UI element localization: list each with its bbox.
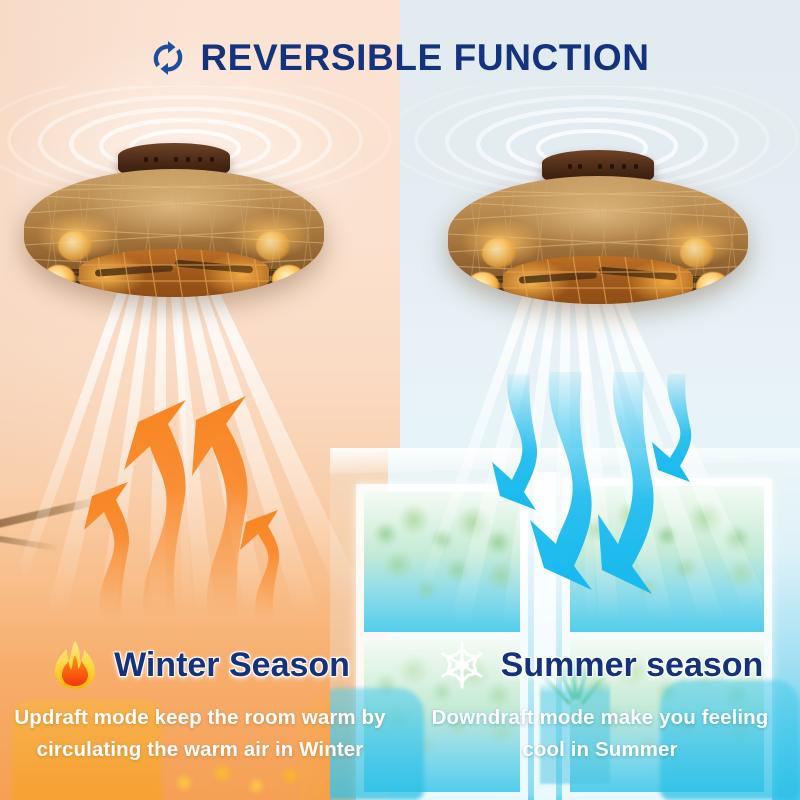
ceiling-fan-light-summer xyxy=(448,150,748,325)
rattan-shade-left xyxy=(24,169,324,297)
winter-description-line-1: Updraft mode keep the room warm by xyxy=(10,702,390,734)
winter-caption-block: Winter Season Updraft mode keep the room… xyxy=(0,636,400,766)
winter-description-line-2: circulating the warm air in Winter xyxy=(10,734,390,766)
summer-description: Downdraft mode make you feeling cool in … xyxy=(400,702,800,766)
snowflake-icon xyxy=(437,639,487,691)
summer-caption-block: Summer season Downdraft mode make you fe… xyxy=(400,636,800,766)
winter-description: Updraft mode keep the room warm by circu… xyxy=(0,702,400,766)
summer-description-line-2: cool in Summer xyxy=(410,734,790,766)
header: REVERSIBLE FUNCTION xyxy=(0,30,800,86)
winter-title: Winter Season xyxy=(114,646,350,685)
page-title: REVERSIBLE FUNCTION xyxy=(200,37,649,79)
summer-title: Summer season xyxy=(501,646,764,685)
flame-icon xyxy=(50,639,100,691)
fan-cage-right xyxy=(503,256,693,304)
summer-description-line-1: Downdraft mode make you feeling xyxy=(410,702,790,734)
fan-cage-left xyxy=(79,249,269,297)
reverse-arrows-icon xyxy=(150,40,186,76)
ceiling-fan-light-winter xyxy=(24,143,324,318)
rattan-shade-right xyxy=(448,176,748,304)
product-infographic: REVERSIBLE FUNCTION xyxy=(0,0,800,800)
